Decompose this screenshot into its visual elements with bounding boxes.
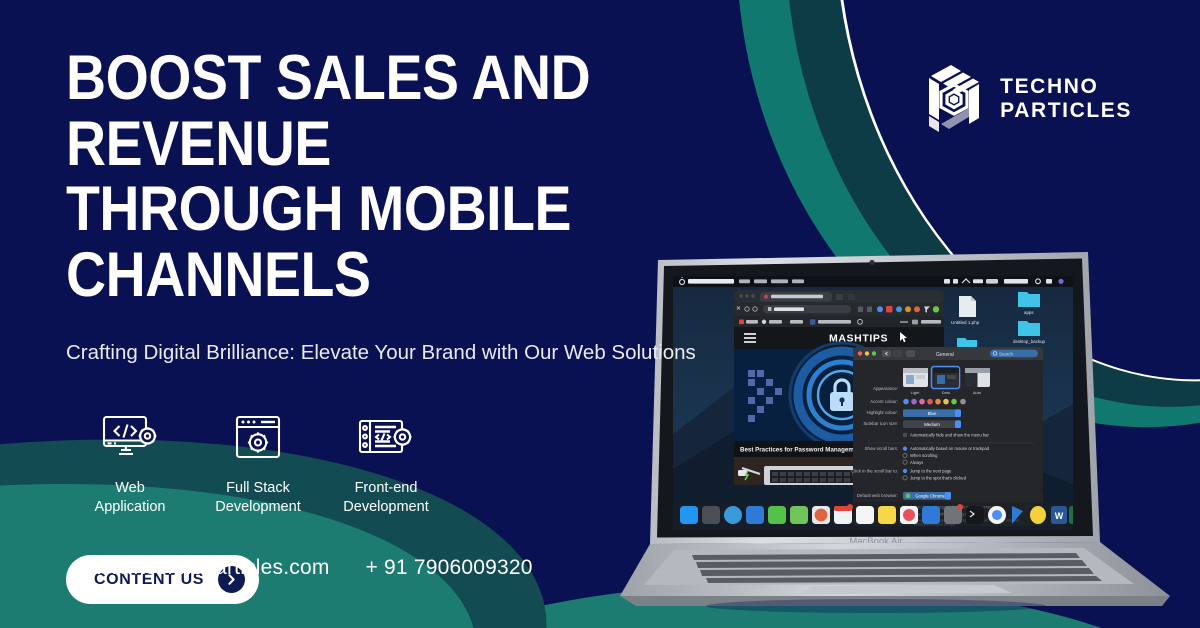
website-link[interactable]: www.technoparticles.com xyxy=(88,556,330,580)
feature-label: Web Application xyxy=(66,479,194,517)
hero-content: BOOST SALES AND REVENUE THROUGH MOBILE C… xyxy=(66,46,826,604)
svg-text:Highlight colour:: Highlight colour: xyxy=(867,410,898,415)
svg-text:Click in the scroll bar to:: Click in the scroll bar to: xyxy=(851,468,898,473)
brand-logo[interactable]: TECHNOPARTICLES xyxy=(921,62,1132,136)
feature-label: Front-end Development xyxy=(322,479,450,517)
brand-line-2: PARTICLES xyxy=(1000,99,1132,122)
isometric-cube-logo-icon xyxy=(921,62,987,136)
svg-text:Google Chrome: Google Chrome xyxy=(915,494,945,499)
svg-text:Blue: Blue xyxy=(928,411,937,416)
svg-text:Appearance:: Appearance: xyxy=(873,386,898,391)
svg-text:Untitled 1.php: Untitled 1.php xyxy=(951,320,980,325)
svg-text:W: W xyxy=(1055,511,1064,521)
svg-text:Light: Light xyxy=(911,390,921,395)
svg-text:Dark: Dark xyxy=(942,390,950,395)
monitor-code-gear-icon xyxy=(66,411,194,465)
browser-window-gear-icon xyxy=(194,411,322,465)
marketing-banner: TECHNOPARTICLES BOOST SALES AND REVENUE … xyxy=(0,0,1200,628)
hero-subtitle: Crafting Digital Brilliance: Elevate You… xyxy=(66,338,721,369)
feature-item-web-application: Web Application xyxy=(66,411,194,517)
contact-bar: www.technoparticles.com + 91 7906009320 xyxy=(88,556,533,580)
svg-text:General: General xyxy=(936,352,954,358)
svg-text:When scrolling: When scrolling xyxy=(910,453,938,458)
svg-text:Sidebar icon size:: Sidebar icon size: xyxy=(863,421,898,426)
svg-text:Default web browser:: Default web browser: xyxy=(857,493,898,498)
svg-text:Search: Search xyxy=(999,352,1013,357)
code-panel-gear-icon xyxy=(322,411,450,465)
brand-wordmark: TECHNOPARTICLES xyxy=(1000,75,1132,122)
svg-text:Medium: Medium xyxy=(924,422,940,427)
svg-text:Jump to the next page: Jump to the next page xyxy=(910,469,952,474)
feature-label: Full Stack Development xyxy=(194,479,322,517)
feature-item-full-stack-development: Full Stack Development xyxy=(194,411,322,517)
svg-text:Accent colour:: Accent colour: xyxy=(870,399,898,404)
feature-item-front-end-development: Front-end Development xyxy=(322,411,450,517)
svg-text:Show scroll bars:: Show scroll bars: xyxy=(865,446,898,451)
feature-list: Web Application Full xyxy=(66,411,826,517)
page-title: BOOST SALES AND REVENUE THROUGH MOBILE C… xyxy=(66,46,735,308)
svg-text:Automatically hide and show th: Automatically hide and show the menu bar xyxy=(910,433,990,438)
svg-text:desktop_backup: desktop_backup xyxy=(1013,339,1046,344)
svg-text:apps: apps xyxy=(1024,310,1034,315)
svg-text:Always: Always xyxy=(910,460,923,465)
brand-line-1: TECHNO xyxy=(1000,75,1098,98)
svg-text:Auto: Auto xyxy=(973,390,982,395)
phone-number[interactable]: + 91 7906009320 xyxy=(366,556,533,580)
svg-text:Automatically based on mouse o: Automatically based on mouse or trackpad xyxy=(910,446,990,451)
svg-text:Jump to the spot that's clicke: Jump to the spot that's clicked xyxy=(910,475,967,480)
